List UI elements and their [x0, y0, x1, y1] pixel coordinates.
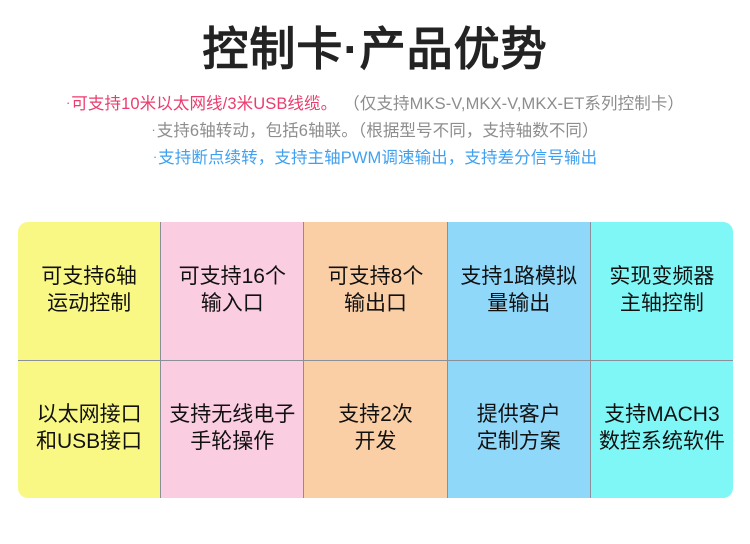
bullet-line-3: ·支持断点续转，支持主轴PWM调速输出，支持差分信号输出 [0, 150, 750, 167]
feature-grid-row-1: 可支持6轴 运动控制 可支持16个 输入口 可支持8个 输出口 支持1路模拟 量… [18, 222, 733, 360]
bullet-line-1-note-text: （仅支持MKS-V,MKX-V,MKX-ET系列控制卡） [343, 95, 684, 113]
feature-cell-analog-output: 支持1路模拟 量输出 [448, 222, 591, 360]
feature-cell-secondary-development: 支持2次 开发 [304, 361, 447, 499]
bullet-marker-icon: · [151, 123, 155, 136]
feature-cell-wireless-handwheel: 支持无线电子 手轮操作 [161, 361, 304, 499]
feature-cell-label: 以太网接口 和USB接口 [36, 402, 142, 456]
bullet-line-1-primary-text: 可支持10米以太网线/3米USB线缆。 [71, 95, 337, 113]
feature-cell-interfaces: 以太网接口 和USB接口 [18, 361, 161, 499]
feature-cell-label: 支持无线电子 手轮操作 [169, 402, 295, 456]
feature-cell-label: 可支持6轴 运动控制 [41, 264, 137, 318]
bullet-line-3-text: 支持断点续转，支持主轴PWM调速输出，支持差分信号输出 [158, 149, 597, 167]
page-title: 控制卡·产品优势 [0, 22, 750, 77]
feature-cell-outputs: 可支持8个 输出口 [304, 222, 447, 360]
feature-cell-axis-motion: 可支持6轴 运动控制 [18, 222, 161, 360]
feature-cell-label: 支持2次 开发 [338, 402, 413, 456]
feature-cell-inputs: 可支持16个 输入口 [161, 222, 304, 360]
bullet-line-2-text: 支持6轴转动，包括6轴联。（根据型号不同，支持轴数不同） [157, 122, 599, 140]
feature-grid-row-2: 以太网接口 和USB接口 支持无线电子 手轮操作 支持2次 开发 提供客户 定制… [18, 360, 733, 499]
feature-bullet-list: ·可支持10米以太网线/3米USB线缆。（仅支持MKS-V,MKX-V,MKX-… [0, 96, 750, 167]
bullet-marker-icon: · [153, 150, 157, 163]
feature-cell-label: 支持MACH3 数控系统软件 [599, 402, 725, 456]
feature-cell-label: 可支持16个 输入口 [179, 264, 286, 318]
feature-cell-custom-solution: 提供客户 定制方案 [448, 361, 591, 499]
feature-cell-label: 实现变频器 主轴控制 [609, 264, 714, 318]
feature-cell-label: 支持1路模拟 量输出 [460, 264, 577, 318]
feature-cell-vfd-spindle: 实现变频器 主轴控制 [591, 222, 733, 360]
bullet-line-2: ·支持6轴转动，包括6轴联。（根据型号不同，支持轴数不同） [0, 123, 750, 140]
bullet-marker-icon: · [66, 96, 70, 109]
feature-cell-label: 提供客户 定制方案 [477, 402, 561, 456]
product-advantages-infographic: 控制卡·产品优势 ·可支持10米以太网线/3米USB线缆。（仅支持MKS-V,M… [0, 0, 750, 544]
feature-cell-mach3: 支持MACH3 数控系统软件 [591, 361, 733, 499]
feature-cell-label: 可支持8个 输出口 [328, 264, 424, 318]
feature-grid: 可支持6轴 运动控制 可支持16个 输入口 可支持8个 输出口 支持1路模拟 量… [18, 222, 733, 498]
bullet-line-1: ·可支持10米以太网线/3米USB线缆。（仅支持MKS-V,MKX-V,MKX-… [0, 96, 750, 113]
